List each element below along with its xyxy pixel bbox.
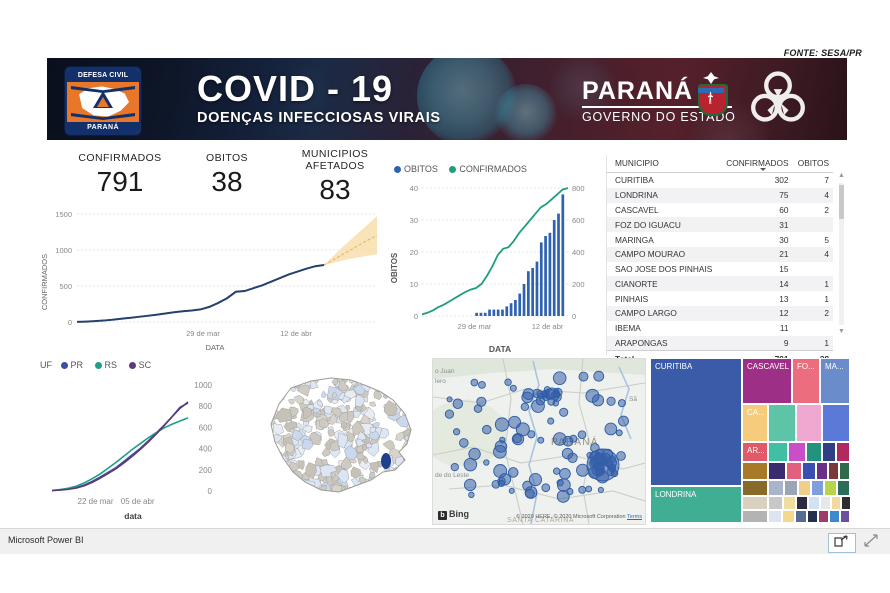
treemap-tile[interactable] xyxy=(828,462,839,480)
treemap-tile[interactable] xyxy=(808,496,820,510)
case-bubble[interactable] xyxy=(542,484,550,492)
case-bubble[interactable] xyxy=(587,449,619,481)
treemap-tile[interactable] xyxy=(768,480,784,496)
bar[interactable] xyxy=(484,313,487,316)
cell-obitos: 7 xyxy=(792,173,833,188)
bar[interactable] xyxy=(561,194,564,316)
case-bubble[interactable] xyxy=(509,488,514,493)
bar[interactable] xyxy=(497,310,500,316)
legend-item-confirmados[interactable]: CONFIRMADOS xyxy=(449,164,527,174)
y-tick-label: 10 xyxy=(410,280,418,289)
treemap-tile[interactable] xyxy=(742,462,768,480)
municipality-cell[interactable] xyxy=(277,475,283,481)
case-bubble[interactable] xyxy=(484,460,489,465)
municipality-cell[interactable] xyxy=(302,480,315,494)
legend-item-rs[interactable]: RS xyxy=(95,360,118,370)
share-button[interactable] xyxy=(828,533,856,553)
municipality-cell[interactable] xyxy=(408,375,417,385)
municipios-table: MUNICIPIO CONFIRMADOS OBITOS CURITIBA302… xyxy=(607,155,833,367)
secondary-y-axis-ticks: 0200400600800 xyxy=(572,184,585,321)
municipality-cell[interactable] xyxy=(405,375,414,391)
cell-municipio: PINHAIS xyxy=(607,291,720,306)
column-header-obitos[interactable]: OBITOS xyxy=(792,155,833,173)
municipality-cell[interactable] xyxy=(412,431,420,440)
series-line-sc[interactable] xyxy=(52,402,188,491)
municipality-cell[interactable] xyxy=(274,394,285,402)
case-bubble[interactable] xyxy=(459,439,468,448)
table-row[interactable]: CAMPO LARGO122 xyxy=(607,306,833,321)
municipality-cell[interactable] xyxy=(322,391,327,397)
case-bubble[interactable] xyxy=(453,429,459,435)
bar[interactable] xyxy=(536,262,539,316)
case-bubble[interactable] xyxy=(607,397,615,405)
cell-municipio: LONDRINA xyxy=(607,188,720,203)
table-scrollbar[interactable]: ▲ ▼ xyxy=(836,171,847,337)
municipality-cell[interactable] xyxy=(409,452,416,458)
table-row[interactable]: SAO JOSE DOS PINHAIS15 xyxy=(607,262,833,277)
case-bubble[interactable] xyxy=(598,487,603,492)
municipality-cell[interactable] xyxy=(408,488,413,494)
municipality-cell[interactable] xyxy=(289,399,295,404)
treemap-tile[interactable] xyxy=(807,510,818,523)
map-attribution: © 2020 HERE, © 2020 Microsoft Corporatio… xyxy=(516,514,642,520)
case-bubble[interactable] xyxy=(510,385,516,391)
municipality-cell[interactable] xyxy=(374,484,383,493)
municipality-cell[interactable] xyxy=(414,388,422,393)
bar[interactable] xyxy=(514,300,517,316)
treemap-tile[interactable] xyxy=(742,496,768,510)
municipality-cell[interactable] xyxy=(387,481,397,490)
y-axis-label: OBITOS xyxy=(390,252,399,283)
treemap-municipios[interactable]: CURITIBALONDRINACASCAVELFO...MA...CA...A… xyxy=(650,358,850,523)
municipality-cell[interactable] xyxy=(390,380,397,388)
case-bubble[interactable] xyxy=(508,468,518,478)
x-tick-label: 29 de mar xyxy=(186,329,220,338)
case-bubble[interactable] xyxy=(536,396,545,405)
municipality-cell[interactable] xyxy=(360,486,368,494)
municipality-cell[interactable] xyxy=(389,474,404,484)
legend-label-rs: RS xyxy=(105,360,118,370)
bar[interactable] xyxy=(480,313,483,316)
bar[interactable] xyxy=(549,233,552,316)
case-bubble[interactable] xyxy=(529,473,541,485)
municipality-cell[interactable] xyxy=(271,475,277,481)
municipality-cell[interactable] xyxy=(387,489,394,496)
y-tick-label: 500 xyxy=(59,282,72,291)
cell-obitos: 4 xyxy=(792,188,833,203)
table-row[interactable]: ARAPONGAS91 xyxy=(607,336,833,351)
case-bubble[interactable] xyxy=(538,437,544,443)
municipality-cell[interactable] xyxy=(382,477,393,493)
treemap-tile[interactable] xyxy=(796,496,808,510)
column-header-confirmados-label: CONFIRMADOS xyxy=(726,158,788,168)
treemap-tile[interactable] xyxy=(811,480,824,496)
municipality-cell[interactable] xyxy=(264,484,272,494)
municipality-cell[interactable] xyxy=(298,376,304,383)
treemap-tile[interactable] xyxy=(802,462,816,480)
case-bubble[interactable] xyxy=(505,379,512,386)
case-bubble[interactable] xyxy=(618,416,628,426)
case-bubble[interactable] xyxy=(451,463,458,470)
treemap-tile-label: CA... xyxy=(747,408,765,417)
legend-swatch-rs xyxy=(95,362,102,369)
case-bubble[interactable] xyxy=(471,379,478,386)
combo-legend[interactable]: OBITOS CONFIRMADOS xyxy=(394,164,536,174)
municipality-cell[interactable] xyxy=(273,394,278,400)
municipality-cell[interactable] xyxy=(394,469,403,477)
cell-confirmados: 15 xyxy=(720,262,793,277)
uf-legend[interactable]: UF PR RS SC xyxy=(40,360,160,370)
treemap-tile-label: LONDRINA xyxy=(655,490,696,499)
municipality-cell[interactable] xyxy=(378,376,395,389)
bar[interactable] xyxy=(553,220,556,316)
map-terms-link[interactable]: Terms xyxy=(627,514,642,520)
treemap-tile[interactable] xyxy=(824,480,837,496)
y-tick-label: 0 xyxy=(68,318,72,327)
municipality-cell[interactable] xyxy=(315,370,323,379)
legend-item-sc[interactable]: SC xyxy=(129,360,152,370)
municipality-cell[interactable] xyxy=(264,459,271,465)
kpi-value: 38 xyxy=(182,166,272,198)
treemap-tile[interactable]: MA... xyxy=(820,358,850,404)
emblem-top-text: DEFESA CIVIL xyxy=(67,69,139,82)
treemap-tile[interactable] xyxy=(822,442,836,462)
bar[interactable] xyxy=(505,306,508,316)
municipality-cell[interactable] xyxy=(263,476,275,488)
table-row[interactable]: LONDRINA754 xyxy=(607,188,833,203)
municipality-cell[interactable] xyxy=(366,370,375,378)
municipality-cell[interactable] xyxy=(284,475,292,484)
table-row[interactable]: FOZ DO IGUACU31 xyxy=(607,217,833,232)
table-row[interactable]: CURITIBA3027 xyxy=(607,173,833,188)
bar[interactable] xyxy=(557,214,560,316)
case-bubble[interactable] xyxy=(594,371,604,381)
municipality-cell[interactable] xyxy=(324,493,330,498)
treemap-tile[interactable] xyxy=(796,404,822,442)
treemap-tile[interactable] xyxy=(798,480,811,496)
chart-combo-svg: 010203040 0200400600800 29 de mar12 de a… xyxy=(388,176,603,356)
municipality-cell[interactable] xyxy=(298,484,304,491)
cell-municipio: CAMPO MOURAO xyxy=(607,247,720,262)
bar[interactable] xyxy=(544,236,547,316)
table-row[interactable]: IBEMA11 xyxy=(607,321,833,336)
municipality-cell[interactable] xyxy=(411,425,423,436)
case-bubble[interactable] xyxy=(542,392,547,397)
case-bubble[interactable] xyxy=(586,389,599,402)
treemap-tile[interactable] xyxy=(841,496,850,510)
scroll-down-arrow-icon[interactable]: ▼ xyxy=(837,327,846,337)
cell-obitos: 1 xyxy=(792,276,833,291)
case-bubble[interactable] xyxy=(578,431,586,439)
table-municipios[interactable]: MUNICIPIO CONFIRMADOS OBITOS CURITIBA302… xyxy=(606,155,850,355)
series-line-pr[interactable] xyxy=(52,403,188,490)
municipality-cell[interactable] xyxy=(272,484,280,491)
municipality-cell[interactable] xyxy=(312,375,318,381)
treemap-tile[interactable] xyxy=(795,510,807,523)
y-tick-label: 600 xyxy=(199,423,213,432)
treemap-tile[interactable] xyxy=(839,462,850,480)
kpi-value: 791 xyxy=(60,166,180,198)
bar[interactable] xyxy=(540,242,543,316)
table-row[interactable]: CASCAVEL602 xyxy=(607,203,833,218)
case-bubble[interactable] xyxy=(570,435,577,442)
treemap-tile[interactable]: CASCAVEL xyxy=(742,358,792,404)
case-bubble[interactable] xyxy=(560,408,568,416)
source-note: FONTE: SESA/PR xyxy=(784,48,862,58)
municipality-cell[interactable] xyxy=(393,383,399,390)
case-bubble[interactable] xyxy=(498,480,504,486)
treemap-tile[interactable] xyxy=(768,442,788,462)
municipality-cell[interactable] xyxy=(302,491,306,497)
treemap-tile[interactable] xyxy=(840,510,850,523)
municipality-cell[interactable] xyxy=(276,371,286,384)
treemap-tile[interactable] xyxy=(816,462,828,480)
treemap-tile[interactable] xyxy=(768,462,786,480)
case-bubble[interactable] xyxy=(509,416,521,428)
bar[interactable] xyxy=(523,284,526,316)
chart-uf-comparison[interactable]: UF PR RS SC 02004006008001000 22 de mar0… xyxy=(38,358,268,523)
municipality-cell[interactable] xyxy=(405,481,415,494)
scrollbar-thumb[interactable] xyxy=(839,185,844,219)
treemap-tile[interactable]: LONDRINA xyxy=(650,486,742,523)
municipality-cell[interactable] xyxy=(267,400,275,410)
treemap-tile[interactable]: CA... xyxy=(742,404,768,442)
municipality-cell[interactable] xyxy=(273,423,284,435)
cell-municipio: FOZ DO IGUACU xyxy=(607,217,720,232)
case-bubble[interactable] xyxy=(548,418,554,424)
municipality-cell[interactable] xyxy=(409,477,422,489)
case-bubble[interactable] xyxy=(482,425,491,434)
treemap-tile[interactable] xyxy=(782,510,795,523)
kpi-card-obitos[interactable]: OBITOS 38 xyxy=(182,152,272,198)
table-row[interactable]: CIANORTE141 xyxy=(607,276,833,291)
report-canvas: FONTE: SESA/PR DEFESA CIVIL PARANÁ COVID… xyxy=(0,0,890,528)
municipality-cell[interactable] xyxy=(288,492,295,500)
municipality-cell[interactable] xyxy=(269,481,278,494)
municipality-cell[interactable] xyxy=(273,398,282,405)
column-header-municipio[interactable]: MUNICIPIO xyxy=(607,155,720,173)
municipality-cell[interactable] xyxy=(294,395,303,404)
treemap-tile[interactable]: FO... xyxy=(792,358,820,404)
treemap-tile[interactable] xyxy=(820,496,831,510)
dashboard-banner: DEFESA CIVIL PARANÁ COVID - 19 DOENÇAS I… xyxy=(47,58,847,140)
municipality-cell[interactable] xyxy=(324,406,331,414)
municipality-cell[interactable] xyxy=(267,469,277,479)
municipality-cells xyxy=(263,370,423,502)
y-tick-label: 200 xyxy=(199,466,213,475)
municipality-cell[interactable] xyxy=(410,432,418,438)
case-bubble[interactable] xyxy=(521,403,529,411)
cell-obitos xyxy=(792,321,833,336)
cell-municipio: CAMPO LARGO xyxy=(607,306,720,321)
case-bubble[interactable] xyxy=(579,486,586,493)
bar[interactable] xyxy=(475,313,478,316)
chart-confirmados-forecast[interactable]: 050010001500 29 de mar12 de abr CONFIRMA… xyxy=(35,200,385,355)
legend-label-sc: SC xyxy=(139,360,152,370)
y-tick-label: 30 xyxy=(410,216,418,225)
treemap-tile[interactable] xyxy=(784,480,798,496)
treemap-tile[interactable] xyxy=(742,510,768,523)
municipality-cell[interactable] xyxy=(302,440,313,450)
case-bubble[interactable] xyxy=(469,492,475,498)
municipality-cell[interactable] xyxy=(263,449,277,460)
bar[interactable] xyxy=(493,310,496,316)
municipality-cell[interactable] xyxy=(396,479,408,489)
municipality-cell[interactable] xyxy=(270,453,279,460)
bar[interactable] xyxy=(518,294,521,316)
case-bubble[interactable] xyxy=(560,468,571,479)
treemap-tile[interactable] xyxy=(786,462,802,480)
fullscreen-button[interactable] xyxy=(862,533,882,551)
municipality-cell[interactable] xyxy=(410,388,423,405)
y2-tick-label: 400 xyxy=(572,248,585,257)
municipality-cell[interactable] xyxy=(385,375,400,389)
bar[interactable] xyxy=(510,303,513,316)
treemap-tile[interactable] xyxy=(818,510,829,523)
y2-tick-label: 600 xyxy=(572,216,585,225)
municipality-cell[interactable] xyxy=(349,370,357,380)
case-bubble[interactable] xyxy=(586,486,592,492)
municipality-cell[interactable] xyxy=(338,492,349,502)
municipality-cell[interactable] xyxy=(361,484,370,497)
municipality-cell[interactable] xyxy=(404,389,414,401)
treemap-tile[interactable] xyxy=(768,496,783,510)
municipality-cell[interactable] xyxy=(272,491,286,499)
treemap-tile[interactable] xyxy=(806,442,822,462)
bing-logo-icon: bBing xyxy=(438,509,469,520)
municipality-cell[interactable] xyxy=(366,373,378,382)
municipality-cell[interactable] xyxy=(302,485,311,496)
bingmap-basemap: PARANÁ o Juan lero de do Leste Sã SANTA … xyxy=(433,359,645,524)
municipality-cell[interactable] xyxy=(397,480,410,494)
kpi-card-confirmados[interactable]: CONFIRMADOS 791 xyxy=(60,152,180,198)
map-parana-municipalities[interactable] xyxy=(255,360,430,520)
bar[interactable] xyxy=(501,310,504,316)
municipality-cell[interactable] xyxy=(284,484,293,493)
coat-bird-shape xyxy=(703,72,719,84)
bar[interactable] xyxy=(531,268,534,316)
treemap-tile[interactable]: AR... xyxy=(742,442,768,462)
case-bubble[interactable] xyxy=(478,381,485,388)
case-bubble[interactable] xyxy=(605,423,617,435)
legend-label-obitos: OBITOS xyxy=(404,164,438,174)
municipality-cell[interactable] xyxy=(276,492,291,502)
table-row[interactable]: CAMPO MOURAO214 xyxy=(607,247,833,262)
case-bubble[interactable] xyxy=(579,372,588,381)
municipality-cell[interactable] xyxy=(273,473,283,483)
case-bubble[interactable] xyxy=(477,397,486,406)
bar[interactable] xyxy=(527,271,530,316)
municipality-cell[interactable] xyxy=(379,372,392,385)
series-line-rs[interactable] xyxy=(52,418,188,491)
case-bubble[interactable] xyxy=(616,430,622,436)
case-bubble[interactable] xyxy=(553,468,559,474)
municipality-cell[interactable] xyxy=(359,485,370,499)
treemap-tile[interactable] xyxy=(768,404,796,442)
case-bubble[interactable] xyxy=(618,400,625,407)
case-bubble[interactable] xyxy=(447,397,452,402)
table-row[interactable]: PINHAIS131 xyxy=(607,291,833,306)
cell-obitos xyxy=(792,262,833,277)
kpi-label-line1: MUNICIPIOS xyxy=(280,148,390,160)
treemap-tile[interactable] xyxy=(829,510,840,523)
treemap-tile[interactable] xyxy=(836,442,850,462)
municipality-cell[interactable] xyxy=(410,419,418,429)
map-parana-bubbles[interactable]: PARANÁ o Juan lero de do Leste Sã SANTA … xyxy=(432,358,646,525)
municipality-cell[interactable] xyxy=(370,402,376,407)
treemap-tile[interactable] xyxy=(783,496,796,510)
emblem-bottom-text: PARANÁ xyxy=(67,122,139,133)
table-row[interactable]: MARINGA305 xyxy=(607,232,833,247)
kpi-card-municipios-afetados[interactable]: MUNICIPIOS AFETADOS 83 xyxy=(280,148,390,206)
municipality-cell[interactable] xyxy=(385,387,396,396)
y2-tick-label: 0 xyxy=(572,312,576,321)
y2-tick-label: 200 xyxy=(572,280,585,289)
column-header-confirmados[interactable]: CONFIRMADOS xyxy=(720,155,793,173)
municipality-cell[interactable] xyxy=(267,383,279,393)
municipality-cell[interactable] xyxy=(264,394,277,404)
municipality-cell[interactable] xyxy=(351,467,361,478)
municipality-cell[interactable] xyxy=(394,388,405,398)
case-bubble[interactable] xyxy=(553,372,566,385)
case-bubble[interactable] xyxy=(567,488,573,494)
treemap-tile[interactable] xyxy=(822,404,850,442)
chart-obitos-confirmados-combo[interactable]: OBITOS CONFIRMADOS 010203040 02004006008… xyxy=(388,160,603,356)
case-bubble[interactable] xyxy=(464,458,477,471)
municipality-cell[interactable] xyxy=(264,456,270,462)
treemap-tile[interactable] xyxy=(831,496,841,510)
municipality-cell[interactable] xyxy=(350,374,355,379)
bar[interactable] xyxy=(488,310,491,316)
treemap-tile[interactable] xyxy=(742,480,768,496)
case-bubble[interactable] xyxy=(525,489,534,498)
case-bubble[interactable] xyxy=(453,399,463,409)
municipality-cell[interactable] xyxy=(284,468,292,477)
municipality-cell[interactable] xyxy=(276,474,282,479)
treemap-tile[interactable] xyxy=(788,442,806,462)
case-bubble[interactable] xyxy=(551,392,559,400)
treemap-tile[interactable] xyxy=(837,480,850,496)
statusbar-title: Microsoft Power BI xyxy=(8,535,84,545)
chart-uf-svg: 02004006008001000 22 de mar05 de abr dat… xyxy=(38,373,268,523)
municipality-cell[interactable] xyxy=(285,493,293,499)
cell-confirmados: 13 xyxy=(720,291,793,306)
municipality-cell[interactable] xyxy=(265,450,277,462)
case-bubble[interactable] xyxy=(495,418,508,431)
case-bubble[interactable] xyxy=(464,479,475,490)
municipality-cell[interactable] xyxy=(377,475,388,486)
case-bubble[interactable] xyxy=(522,392,533,403)
municipality-cell[interactable] xyxy=(284,477,290,485)
municipality-cell[interactable] xyxy=(412,376,422,384)
case-bubble[interactable] xyxy=(493,445,506,458)
treemap-tile[interactable]: CURITIBA xyxy=(650,358,742,486)
case-bubble[interactable] xyxy=(445,410,453,418)
municipality-cell[interactable] xyxy=(370,427,376,432)
scroll-up-arrow-icon[interactable]: ▲ xyxy=(837,171,846,181)
legend-item-pr[interactable]: PR xyxy=(61,360,84,370)
municipality-cell[interactable] xyxy=(276,408,292,422)
municipality-cell[interactable] xyxy=(396,432,404,441)
x-axis-label: DATA xyxy=(489,344,511,354)
map-label-ojuan: o Juan xyxy=(435,368,455,375)
y-tick-label: 800 xyxy=(199,402,213,411)
legend-item-obitos[interactable]: OBITOS xyxy=(394,164,438,174)
municipality-cell[interactable] xyxy=(273,482,285,493)
case-bubble[interactable] xyxy=(568,453,577,462)
legend-swatch-sc xyxy=(129,362,136,369)
treemap-tile[interactable] xyxy=(768,510,782,523)
